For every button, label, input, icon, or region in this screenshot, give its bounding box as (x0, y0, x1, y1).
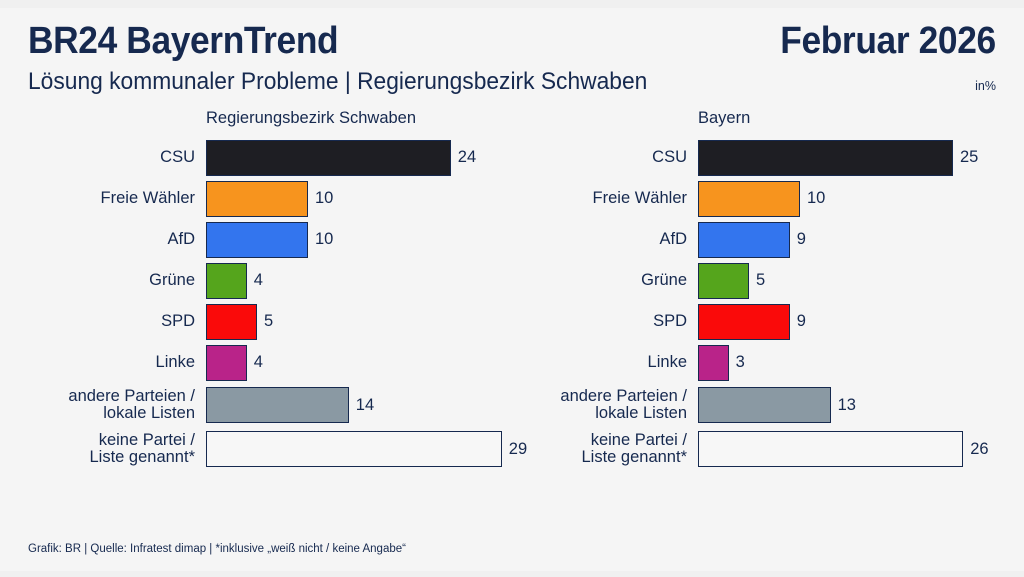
top-band (0, 0, 1024, 8)
bar (206, 181, 308, 217)
bar (206, 263, 247, 299)
bar-row: Freie Wähler10 (512, 178, 1006, 219)
period-title: Februar 2026 (780, 22, 996, 62)
bar-value-label: 4 (254, 271, 263, 290)
bar-wrap: 5 (698, 263, 1006, 299)
bar (206, 345, 247, 381)
bottom-band (0, 571, 1024, 577)
bar-row-label: Grüne (512, 272, 698, 289)
bar-row-label: Grüne (18, 272, 206, 289)
panel-title-schwaben: Regierungsbezirk Schwaben (18, 105, 512, 131)
bar-row: SPD5 (18, 301, 512, 342)
bar-value-label: 13 (838, 396, 856, 415)
header-subtitle-row: Lösung kommunaler Probleme | Regierungsb… (28, 68, 996, 96)
bar (698, 263, 749, 299)
bar-row: CSU24 (18, 137, 512, 178)
bar-value-label: 24 (458, 148, 476, 167)
bar (206, 304, 257, 340)
bar (206, 140, 451, 176)
bar-wrap: 3 (698, 345, 1006, 381)
bar-value-label: 9 (797, 312, 806, 331)
bar (698, 181, 800, 217)
bar-rows-schwaben: CSU24Freie Wähler10AfD10Grüne4SPD5Linke4… (18, 137, 512, 471)
bar (698, 222, 790, 258)
unit-note: in% (975, 79, 996, 95)
bar-wrap: 4 (206, 345, 512, 381)
bar-value-label: 10 (807, 189, 825, 208)
chart-panel-schwaben: Regierungsbezirk Schwaben CSU24Freie Wäh… (18, 105, 512, 543)
brand-title: BR24 BayernTrend (28, 22, 338, 62)
bar-wrap: 25 (698, 140, 1006, 176)
bar-row: andere Parteien / lokale Listen13 (512, 383, 1006, 427)
infographic-page: BR24 BayernTrend Februar 2026 Lösung kom… (0, 0, 1024, 577)
bar-value-label: 4 (254, 353, 263, 372)
bar-row-label: Freie Wähler (512, 190, 698, 207)
bar-row: AfD9 (512, 219, 1006, 260)
bar-row-label: andere Parteien / lokale Listen (512, 388, 698, 423)
bar-row: Grüne5 (512, 260, 1006, 301)
footer: Grafik: BR | Quelle: Infratest dimap | *… (0, 543, 1024, 571)
bar-row-label: CSU (18, 149, 206, 166)
bar-value-label: 10 (315, 230, 333, 249)
bar (206, 431, 502, 467)
bar-wrap: 26 (698, 431, 1006, 467)
bar-row-label: Linke (18, 354, 206, 371)
bar-wrap: 14 (206, 387, 512, 423)
bar-row: keine Partei / Liste genannt*26 (512, 427, 1006, 471)
bar-row-label: Linke (512, 354, 698, 371)
panel-title-bayern: Bayern (512, 105, 1006, 131)
bar-row-label: andere Parteien / lokale Listen (18, 388, 206, 423)
bar (698, 431, 963, 467)
bar-row: andere Parteien / lokale Listen14 (18, 383, 512, 427)
bar-value-label: 9 (797, 230, 806, 249)
bar-wrap: 24 (206, 140, 512, 176)
bar (206, 387, 349, 423)
bar-wrap: 9 (698, 222, 1006, 258)
bar-wrap: 29 (206, 431, 512, 467)
bar (698, 387, 831, 423)
page-subtitle: Lösung kommunaler Probleme | Regierungsb… (28, 68, 647, 96)
bar-wrap: 4 (206, 263, 512, 299)
bar-value-label: 5 (264, 312, 273, 331)
bar-row-label: keine Partei / Liste genannt* (512, 432, 698, 467)
bar-wrap: 5 (206, 304, 512, 340)
bar-row: Grüne4 (18, 260, 512, 301)
bar-row: CSU25 (512, 137, 1006, 178)
bar (698, 140, 953, 176)
bar-value-label: 10 (315, 189, 333, 208)
bar (698, 304, 790, 340)
bar-value-label: 5 (756, 271, 765, 290)
source-note: Grafik: BR | Quelle: Infratest dimap | *… (28, 543, 996, 555)
bar-row: Freie Wähler10 (18, 178, 512, 219)
bar-row: SPD9 (512, 301, 1006, 342)
bar-row-label: AfD (18, 231, 206, 248)
bar-wrap: 10 (698, 181, 1006, 217)
bar-row-label: AfD (512, 231, 698, 248)
bar-row-label: SPD (512, 313, 698, 330)
header-title-row: BR24 BayernTrend Februar 2026 (28, 22, 996, 62)
bar (698, 345, 729, 381)
bar-wrap: 9 (698, 304, 1006, 340)
bar-rows-bayern: CSU25Freie Wähler10AfD9Grüne5SPD9Linke3a… (512, 137, 1006, 471)
bar-row: Linke3 (512, 342, 1006, 383)
bar-wrap: 10 (206, 181, 512, 217)
chart-panel-bayern: Bayern CSU25Freie Wähler10AfD9Grüne5SPD9… (512, 105, 1006, 543)
bar (206, 222, 308, 258)
bar-value-label: 26 (970, 440, 988, 459)
bar-row-label: Freie Wähler (18, 190, 206, 207)
charts-container: Regierungsbezirk Schwaben CSU24Freie Wäh… (0, 105, 1024, 543)
bar-row: AfD10 (18, 219, 512, 260)
bar-row-label: keine Partei / Liste genannt* (18, 432, 206, 467)
header: BR24 BayernTrend Februar 2026 Lösung kom… (0, 8, 1024, 95)
bar-row: Linke4 (18, 342, 512, 383)
bar-row-label: CSU (512, 149, 698, 166)
bar-value-label: 3 (736, 353, 745, 372)
bar-row-label: SPD (18, 313, 206, 330)
bar-value-label: 14 (356, 396, 374, 415)
bar-wrap: 13 (698, 387, 1006, 423)
bar-row: keine Partei / Liste genannt*29 (18, 427, 512, 471)
bar-wrap: 10 (206, 222, 512, 258)
bar-value-label: 25 (960, 148, 978, 167)
